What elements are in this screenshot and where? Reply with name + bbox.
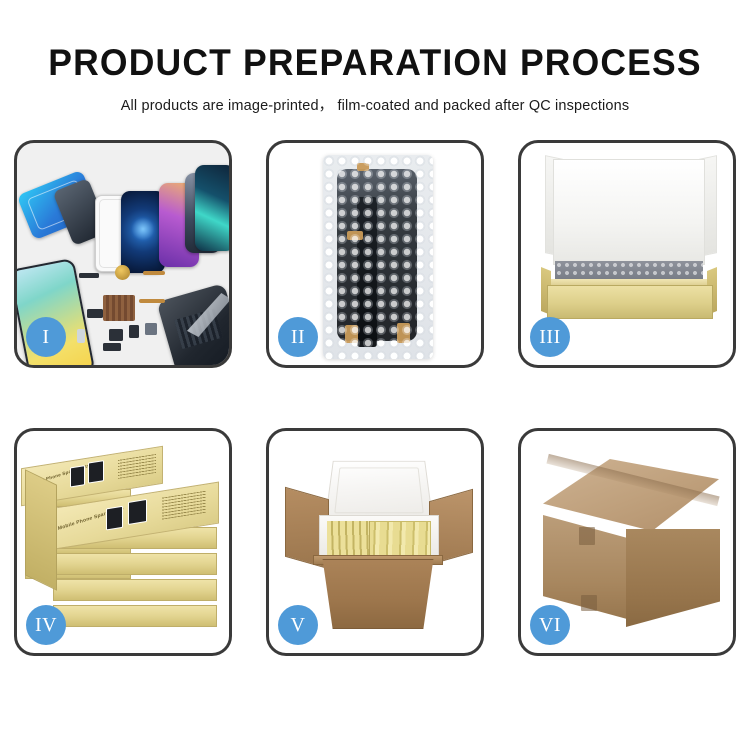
stacked-box-r2	[53, 553, 217, 575]
page-title: PRODUCT PREPARATION PROCESS	[15, 0, 735, 84]
step-badge-6: VI	[530, 605, 570, 645]
stack-side-left	[25, 469, 57, 591]
kraft-boxes-inside-left	[327, 521, 370, 557]
process-steps-grid: I II	[14, 140, 736, 656]
flex-cable-1	[143, 271, 165, 275]
logic-board	[103, 295, 135, 321]
box-spec-lines-rear	[118, 453, 156, 479]
white-foam-lid	[553, 159, 705, 265]
box-screen-image-rear-2	[88, 460, 104, 484]
carton-right-face	[626, 529, 720, 627]
button-part	[129, 325, 139, 338]
styrofoam-lid	[325, 461, 434, 522]
step-panel-4[interactable]: Mobile Phone Spare Parts Mobile Phone Sp…	[14, 428, 232, 656]
camera-module	[87, 309, 103, 318]
speaker-component	[115, 265, 130, 280]
step-badge-5: V	[278, 605, 318, 645]
step-panel-2[interactable]: II	[266, 140, 484, 368]
carton-tape-upper	[579, 527, 595, 545]
kraft-box-front	[547, 285, 713, 319]
carton-tape-lower	[581, 595, 597, 611]
page-subtitle: All products are image-printed， film-coa…	[0, 84, 750, 115]
bubble-wrap-bag	[323, 155, 433, 359]
carton-body	[315, 559, 441, 629]
bubble-texture	[323, 155, 433, 359]
step-badge-2: II	[278, 317, 318, 357]
box-spec-lines-front	[162, 491, 206, 520]
step-badge-1: I	[26, 317, 66, 357]
step-badge-4: IV	[26, 605, 66, 645]
header: PRODUCT PREPARATION PROCESS All products…	[0, 0, 750, 115]
vibration-motor	[109, 329, 123, 341]
stacked-box-r4	[53, 605, 217, 627]
box-screen-image-front-2	[128, 499, 147, 525]
product-preparation-infographic: PRODUCT PREPARATION PROCESS All products…	[0, 0, 750, 750]
small-bracket	[145, 323, 157, 335]
step-panel-1[interactable]: I	[14, 140, 232, 368]
stacked-box-r3	[53, 579, 217, 601]
antenna-strip	[103, 343, 121, 351]
step-panel-5[interactable]: V	[266, 428, 484, 656]
sim-tray	[77, 329, 85, 343]
step-badge-3: III	[530, 317, 570, 357]
step-panel-3[interactable]: III	[518, 140, 736, 368]
box-screen-image-rear-1	[70, 465, 85, 487]
teal-display-panel	[195, 165, 229, 251]
step-panel-6[interactable]: VI	[518, 428, 736, 656]
phone-back-housing	[157, 283, 229, 365]
box-screen-image-front-1	[106, 506, 123, 531]
connector-strip	[79, 273, 99, 278]
flex-cable-2	[139, 299, 165, 303]
